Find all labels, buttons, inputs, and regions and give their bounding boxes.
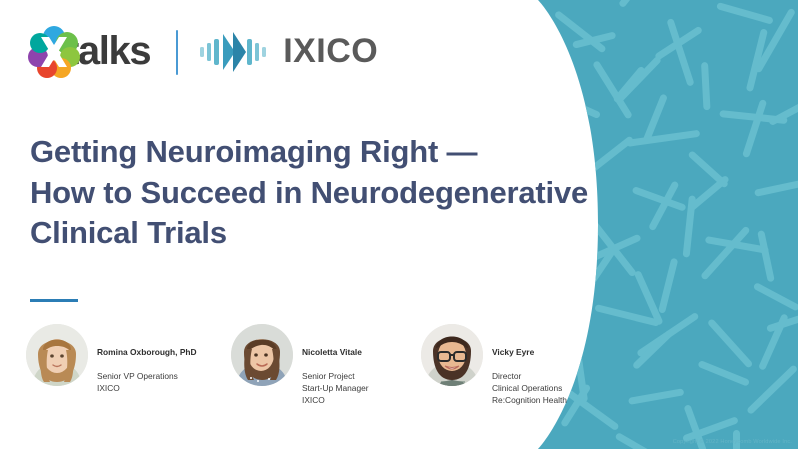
webinar-title-slide: talks IXICO Getting Neuroimaging Right —…: [0, 0, 798, 449]
speaker-name: Vicky Eyre: [492, 347, 567, 359]
speaker-info: Nicoletta Vitale Senior Project Start-Up…: [302, 324, 369, 418]
copyright-text: Copyright © 2022 Honeycomb Worldwide Inc…: [673, 439, 792, 445]
speaker-name: Romina Oxborough, PhD: [97, 347, 197, 359]
xtalks-pinwheel-icon: [28, 26, 80, 78]
speaker-list: Romina Oxborough, PhD Senior VP Operatio…: [26, 324, 606, 409]
page-title: Getting Neuroimaging Right — How to Succ…: [30, 132, 630, 254]
ixico-waveform-icon: [200, 30, 274, 74]
speaker-card: Romina Oxborough, PhD Senior VP Operatio…: [26, 324, 197, 407]
speaker-role: Director Clinical Operations Re:Cognitio…: [492, 371, 567, 407]
speaker-photo-nicoletta-vitale: [231, 324, 293, 386]
speaker-name: Nicoletta Vitale: [302, 347, 369, 359]
speaker-card: Vicky Eyre Director Clinical Operations …: [421, 324, 567, 418]
logo-divider: [176, 30, 178, 75]
speaker-role: Senior Project Start-Up Manager IXICO: [302, 371, 369, 407]
ixico-logo[interactable]: IXICO: [200, 26, 378, 78]
speaker-card: Nicoletta Vitale Senior Project Start-Up…: [231, 324, 369, 418]
speaker-photo-romina-oxborough: [26, 324, 88, 386]
speaker-info: Vicky Eyre Director Clinical Operations …: [492, 324, 567, 418]
xtalks-logo[interactable]: talks: [28, 26, 150, 78]
ixico-logo-text: IXICO: [283, 34, 378, 70]
speaker-photo-vicky-eyre: [421, 324, 483, 386]
logo-bar: talks IXICO: [28, 26, 378, 78]
speaker-role: Senior VP Operations IXICO: [97, 371, 197, 395]
speaker-info: Romina Oxborough, PhD Senior VP Operatio…: [97, 324, 197, 407]
title-underline-rule: [30, 299, 78, 302]
